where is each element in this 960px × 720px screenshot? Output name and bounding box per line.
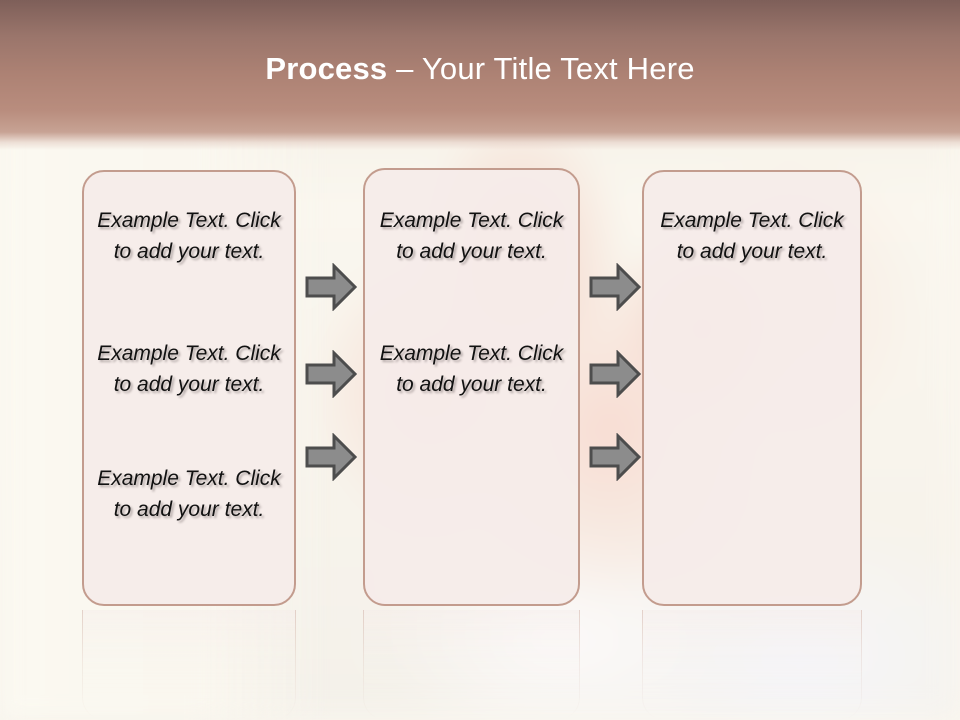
process-box-1-text-1[interactable]: Example Text. Click to add your text. — [90, 205, 288, 267]
arrow-right-icon-1-1 — [305, 263, 357, 311]
arrow-right-icon-1-3 — [305, 433, 357, 481]
process-box-reflection-1 — [82, 610, 296, 720]
process-box-2-text-2[interactable]: Example Text. Click to add your text. — [371, 338, 572, 400]
arrow-right-icon-2-3 — [589, 433, 641, 481]
page-title-rest: – Your Title Text Here — [387, 51, 694, 86]
process-box-reflection-3 — [642, 610, 862, 720]
process-box-1-text-3[interactable]: Example Text. Click to add your text. — [90, 463, 288, 525]
process-box-reflection-2 — [363, 610, 580, 720]
process-box-2-text-1[interactable]: Example Text. Click to add your text. — [371, 205, 572, 267]
page-title-strong: Process — [265, 51, 387, 86]
arrow-right-icon-2-1 — [589, 263, 641, 311]
arrow-right-icon-2-2 — [589, 350, 641, 398]
process-box-1-text-2[interactable]: Example Text. Click to add your text. — [90, 338, 288, 400]
process-box-3-text-1[interactable]: Example Text. Click to add your text. — [650, 205, 854, 267]
arrow-right-icon-1-2 — [305, 350, 357, 398]
slide-canvas: Process – Your Title Text Here Example T… — [0, 0, 960, 720]
page-title: Process – Your Title Text Here — [0, 50, 960, 88]
